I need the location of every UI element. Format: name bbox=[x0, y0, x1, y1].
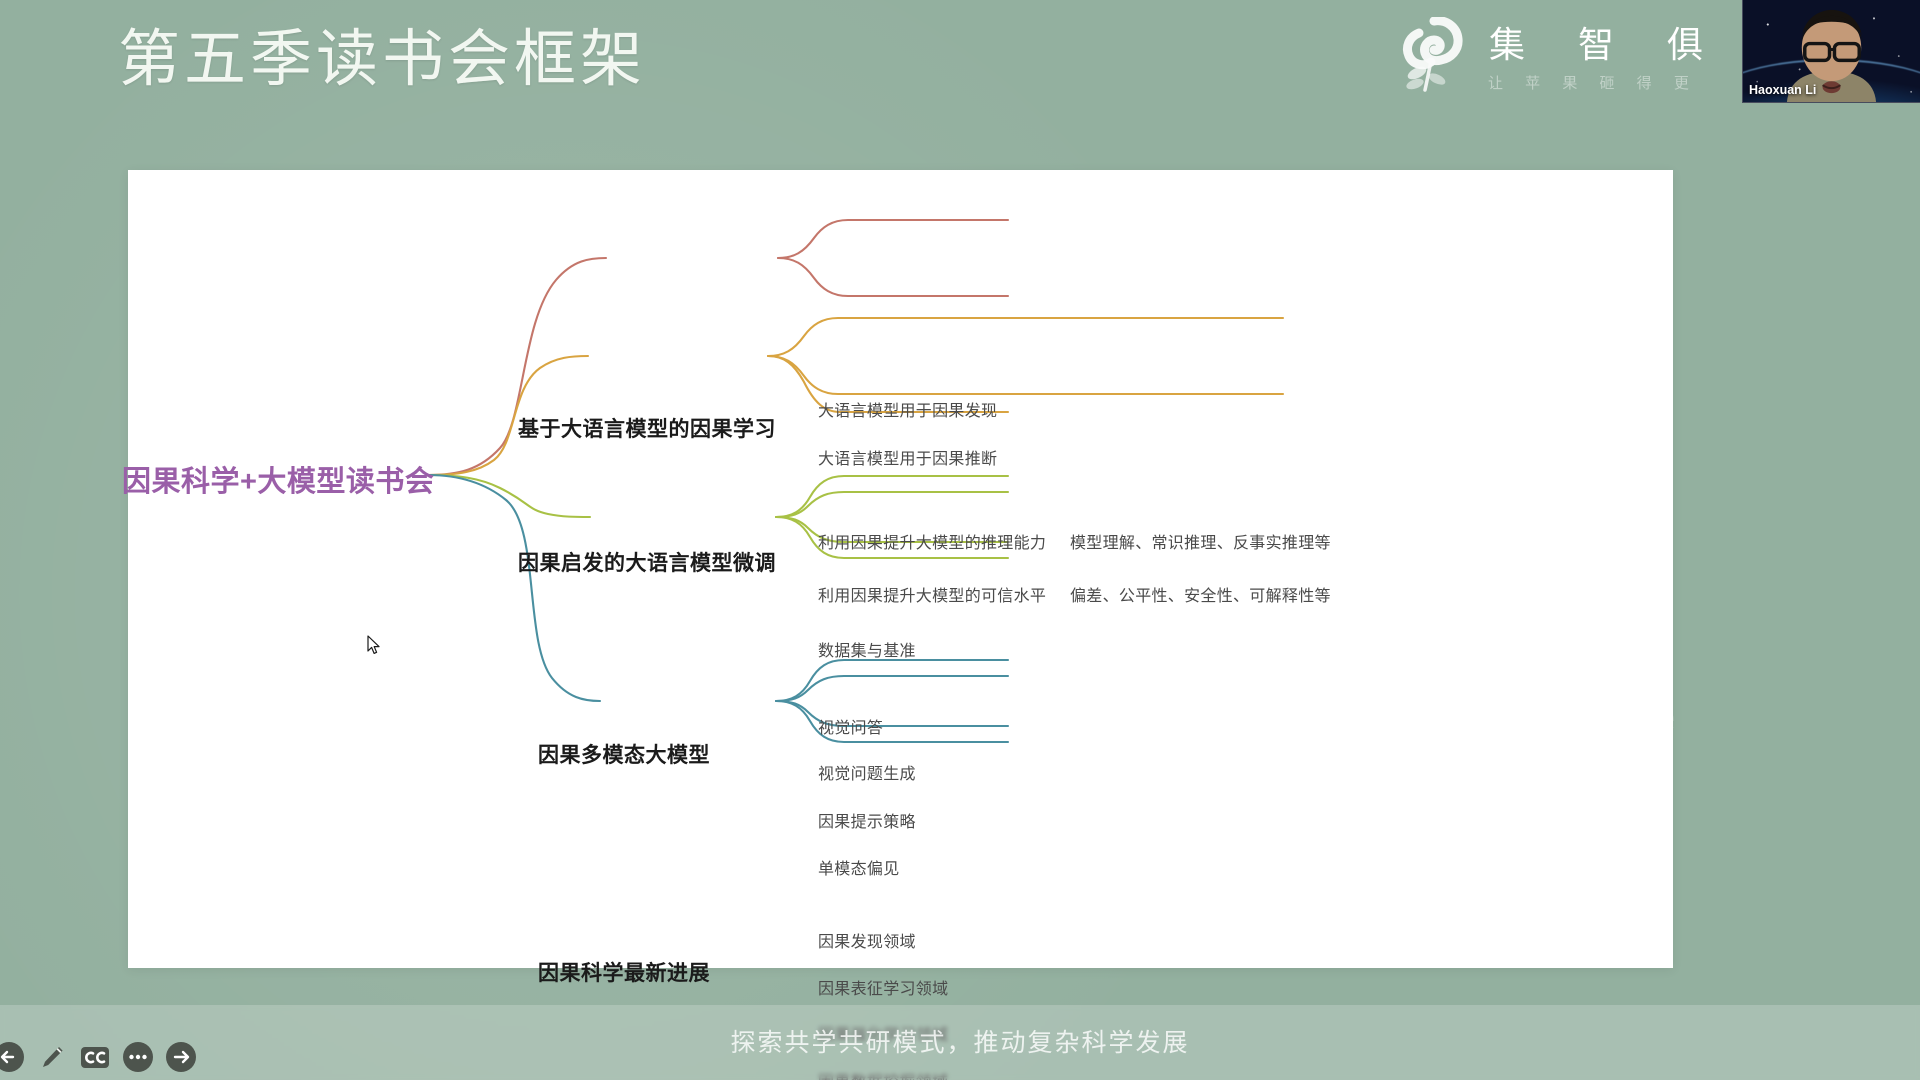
mindmap-branch-4[interactable]: 因果科学最新进展 bbox=[538, 957, 710, 987]
mindmap-root-node[interactable]: 因果科学+大模型读书会 bbox=[122, 458, 432, 500]
mindmap-branch-3-child-2[interactable]: 视觉问题生成 bbox=[818, 760, 916, 784]
bottom-caption: 探索共学共研模式，推动复杂科学发展 bbox=[0, 1023, 1920, 1059]
closed-caption-icon bbox=[78, 1040, 112, 1074]
brand-name: 集 智 俱 bbox=[1485, 16, 1725, 68]
arrow-right-icon bbox=[164, 1040, 198, 1074]
brand-text-block: 集 智 俱 让 苹 果 砸 得 更 bbox=[1485, 16, 1725, 93]
captions-button[interactable] bbox=[78, 1040, 112, 1074]
mindmap-branch-2[interactable]: 因果启发的大语言模型微调 bbox=[518, 547, 776, 577]
more-options-button[interactable] bbox=[121, 1040, 155, 1074]
mindmap-branch-1-child-1[interactable]: 大语言模型用于因果发现 bbox=[818, 397, 997, 421]
mindmap-connectors bbox=[128, 170, 1673, 968]
mindmap-branch-2-child-1[interactable]: 利用因果提升大模型的推理能力 bbox=[818, 529, 1046, 553]
slide-title: 第五季读书会框架 bbox=[118, 22, 646, 100]
next-slide-button[interactable] bbox=[164, 1040, 198, 1074]
participant-video-tile[interactable]: Haoxuan Li bbox=[1742, 0, 1920, 103]
bottom-toolbar bbox=[0, 1040, 198, 1074]
pencil-icon bbox=[35, 1040, 69, 1074]
arrow-left-icon bbox=[0, 1040, 26, 1074]
mindmap-branch-4-child-2[interactable]: 因果表征学习领域 bbox=[818, 975, 948, 999]
annotate-button[interactable] bbox=[35, 1040, 69, 1074]
ellipsis-icon bbox=[121, 1040, 155, 1074]
mindmap-branch-3-child-1[interactable]: 视觉问答 bbox=[818, 714, 883, 738]
participant-name-badge: Haoxuan Li bbox=[1749, 83, 1816, 97]
mindmap-branch-2-child-3[interactable]: 数据集与基准 bbox=[818, 637, 916, 661]
apple-blossom-logo-icon bbox=[1401, 17, 1467, 93]
mindmap-branch-4-child-1[interactable]: 因果发现领域 bbox=[818, 928, 916, 952]
mindmap-branch-2-child-2-detail[interactable]: 偏差、公平性、安全性、可解释性等 bbox=[1070, 582, 1331, 606]
mindmap-branch-3-child-4[interactable]: 单模态偏见 bbox=[818, 855, 900, 879]
mindmap-branch-1-child-2[interactable]: 大语言模型用于因果推断 bbox=[818, 445, 997, 469]
mindmap-branch-1[interactable]: 基于大语言模型的因果学习 bbox=[518, 413, 776, 443]
brand-logo: 集 智 俱 让 苹 果 砸 得 更 bbox=[1401, 16, 1725, 93]
mindmap-branch-2-child-1-detail[interactable]: 模型理解、常识推理、反事实推理等 bbox=[1070, 529, 1331, 553]
mindmap-branch-3[interactable]: 因果多模态大模型 bbox=[538, 739, 710, 769]
mindmap-card: 因果科学+大模型读书会 基于大语言模型的因果学习 大语言模型用于因果发现 大语言… bbox=[128, 170, 1673, 968]
brand-tagline: 让 苹 果 砸 得 更 bbox=[1485, 72, 1725, 93]
bottom-bar: 探索共学共研模式，推动复杂科学发展 bbox=[0, 1005, 1920, 1080]
previous-slide-button[interactable] bbox=[0, 1040, 26, 1074]
mindmap-branch-2-child-2[interactable]: 利用因果提升大模型的可信水平 bbox=[818, 582, 1046, 606]
mindmap-branch-3-child-3[interactable]: 因果提示策略 bbox=[818, 808, 916, 832]
